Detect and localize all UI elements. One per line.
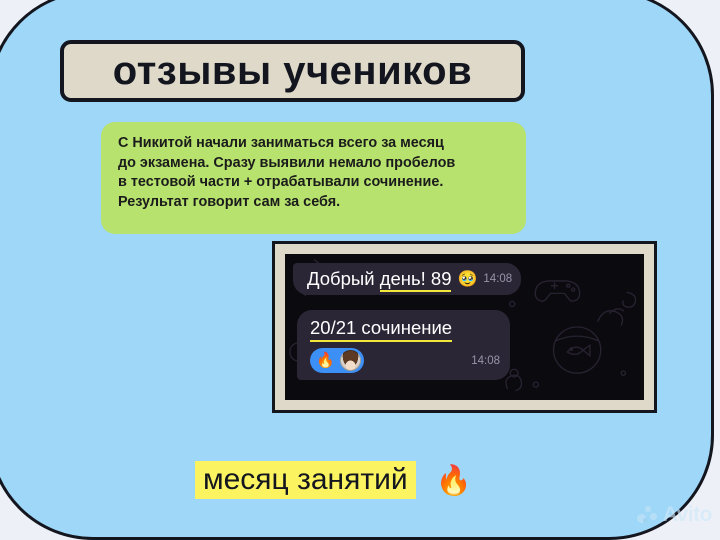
testimonial-card: С Никитой начали заниматься всего за мес… <box>101 122 526 234</box>
message-reaction-pill[interactable]: 🔥 <box>310 348 364 373</box>
chat-message-1-time: 14:08 <box>483 273 512 285</box>
testimonial-line-2: до экзамена. Сразу выявили немало пробел… <box>118 154 510 174</box>
caption-row: месяц занятий 🔥 <box>195 461 472 499</box>
chat-window: Добрый день! 89 🥹 14:08 20/21 сочинение … <box>285 254 644 400</box>
chat-message-2-time: 14:08 <box>471 355 500 367</box>
avito-watermark: Avito <box>637 503 712 527</box>
testimonial-line-3: в тестовой части + отрабатывали сочинени… <box>118 173 510 193</box>
chat-message-bubble-2: 20/21 сочинение 🔥 14:08 <box>297 310 510 380</box>
page-title: отзывы учеников <box>113 51 472 91</box>
poster-canvas: отзывы учеников С Никитой начали занимат… <box>0 0 720 537</box>
avito-wordmark: Avito <box>663 503 712 527</box>
chat-message-bubble-1: Добрый день! 89 🥹 14:08 <box>293 263 521 295</box>
testimonial-line-4: Результат говорит сам за себя. <box>118 193 510 213</box>
page-title-plate: отзывы учеников <box>60 40 525 102</box>
chat-screenshot-frame: Добрый день! 89 🥹 14:08 20/21 сочинение … <box>272 241 657 413</box>
pleading-face-emoji: 🥹 <box>457 271 477 287</box>
fire-emoji: 🔥 <box>313 353 338 368</box>
chat-message-2-text: 20/21 сочинение <box>310 317 452 342</box>
avito-logo-icon <box>637 506 659 524</box>
chat-message-2-footer: 🔥 14:08 <box>310 348 500 373</box>
caption-highlight-text: месяц занятий <box>195 461 416 499</box>
chat-message-1-underlined: день! 89 <box>380 268 452 292</box>
chat-message-1-text: Добрый день! 89 <box>307 269 451 289</box>
testimonial-line-1: С Никитой начали заниматься всего за мес… <box>118 134 510 154</box>
fire-emoji: 🔥 <box>436 466 472 495</box>
chat-message-1-prefix: Добрый <box>307 268 380 289</box>
reaction-avatar <box>340 350 361 371</box>
